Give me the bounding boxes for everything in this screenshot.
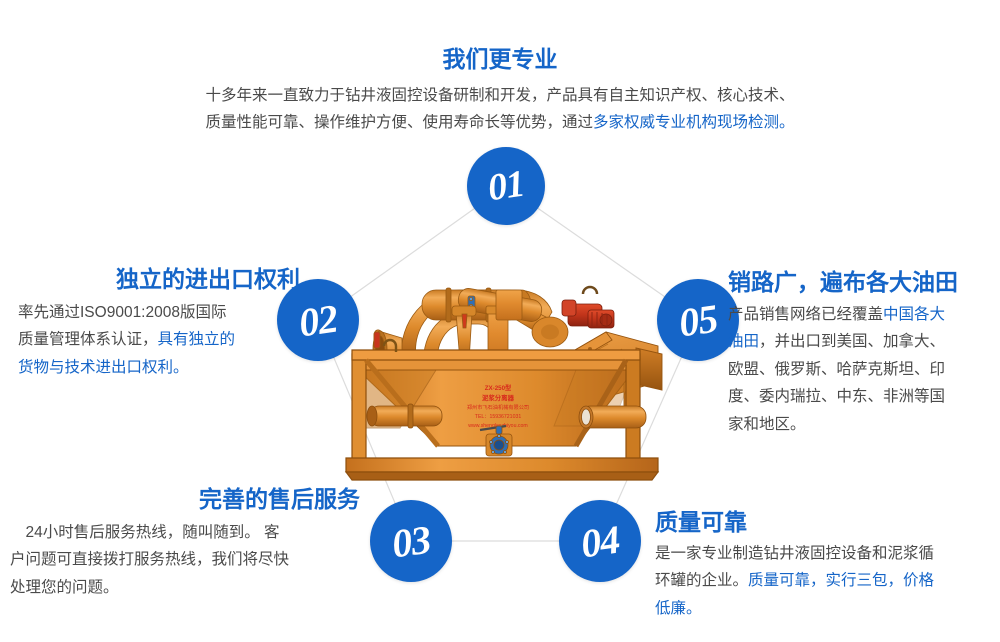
ll-line3: 处理您的问题。	[10, 579, 119, 596]
step-number-03: 03	[389, 515, 433, 567]
feature-block-after-sales: 完善的售后服务 24小时售后服务热线，随叫随到。 客 户问题可直接拨打服务热线，…	[10, 485, 360, 601]
machine-photo: ZX-250型 泥浆分离器 郑州市飞石油机械有限公司 TEL：159367210…	[340, 250, 670, 495]
rl-line3-highlight: 低廉。	[655, 600, 702, 617]
lu-line2: 质量管理体系认证，	[18, 331, 158, 348]
step-number-05: 05	[676, 294, 720, 346]
svg-text:ZX-250型: ZX-250型	[485, 384, 512, 392]
feature-body-after-sales: 24小时售后服务热线，随叫随到。 客 户问题可直接拨打服务热线，我们将尽快 处理…	[10, 519, 360, 602]
feature-body-professional: 十多年来一直致力于钻井液固控设备研制和开发，产品具有自主知识产权、核心技术、 质…	[150, 82, 850, 137]
feature-block-top: 我们更专业 十多年来一直致力于钻井液固控设备研制和开发，产品具有自主知识产权、核…	[150, 45, 850, 137]
ru-line4: 度、委内瑞拉、中东、非洲等国	[728, 388, 945, 405]
svg-text:TEL：15936721031: TEL：15936721031	[475, 414, 522, 420]
feature-body-import-export: 率先通过ISO9001:2008版国际 质量管理体系认证，具有独立的 货物与技术…	[18, 299, 300, 382]
ru-line2: ，并出口到美国、加拿大、	[759, 333, 945, 350]
feature-heading-sales-network: 销路广，遍布各大油田	[728, 268, 990, 297]
top-line2-highlight: 多家权威专业机构现场检测。	[593, 114, 795, 131]
step-circle-05[interactable]: 05	[657, 279, 739, 361]
ru-line1-highlight: 中国各大	[883, 306, 945, 323]
rl-line2-highlight: 质量可靠，实行三包，价格	[748, 572, 934, 589]
lu-line1: 率先通过ISO9001:2008版国际	[18, 304, 226, 321]
feature-block-import-export: 独立的进出口权利 率先通过ISO9001:2008版国际 质量管理体系认证，具有…	[18, 265, 300, 381]
ru-line1: 产品销售网络已经覆盖	[728, 306, 883, 323]
feature-heading-quality: 质量可靠	[655, 508, 990, 537]
infographic-root: ZX-250型 泥浆分离器 郑州市飞石油机械有限公司 TEL：159367210…	[0, 0, 1000, 642]
feature-heading-professional: 我们更专业	[150, 45, 850, 74]
rl-line1: 是一家专业制造钻井液固控设备和泥浆循	[655, 545, 934, 562]
step-circle-01[interactable]: 01	[467, 147, 545, 225]
top-line1: 十多年来一直致力于钻井液固控设备研制和开发，产品具有自主知识产权、核心技术、	[205, 87, 794, 104]
feature-body-quality: 是一家专业制造钻井液固控设备和泥浆循 环罐的企业。质量可靠，实行三包，价格 低廉…	[655, 540, 990, 623]
rl-line2: 环罐的企业。	[655, 572, 748, 589]
step-number-04: 04	[578, 515, 622, 567]
top-line2: 质量性能可靠、操作维护方便、使用寿命长等优势，通过	[205, 114, 593, 131]
feature-heading-import-export: 独立的进出口权利	[18, 265, 300, 294]
step-number-02: 02	[296, 294, 340, 346]
step-number-01: 01	[485, 162, 527, 211]
feature-block-sales-network: 销路广，遍布各大油田 产品销售网络已经覆盖中国各大 油田，并出口到美国、加拿大、…	[728, 268, 990, 439]
ll-line1: 24小时售后服务热线，随叫随到。 客	[10, 524, 280, 541]
step-circle-03[interactable]: 03	[370, 500, 452, 582]
svg-text:郑州市飞石油机械有限公司: 郑州市飞石油机械有限公司	[467, 403, 529, 411]
feature-block-quality: 质量可靠 是一家专业制造钻井液固控设备和泥浆循 环罐的企业。质量可靠，实行三包，…	[655, 508, 990, 622]
feature-body-sales-network: 产品销售网络已经覆盖中国各大 油田，并出口到美国、加拿大、 欧盟、俄罗斯、哈萨克…	[728, 301, 990, 439]
ru-line2-highlight: 油田	[728, 333, 759, 350]
ll-line2: 户问题可直接拨打服务热线，我们将尽快	[10, 551, 289, 568]
ru-line5: 家和地区。	[728, 416, 806, 433]
feature-heading-after-sales: 完善的售后服务	[10, 485, 360, 514]
svg-text:泥浆分离器: 泥浆分离器	[482, 393, 515, 402]
lu-line3-highlight: 货物与技术进出口权利。	[18, 359, 189, 376]
ru-line3: 欧盟、俄罗斯、哈萨克斯坦、印	[728, 361, 945, 378]
lu-line2-highlight: 具有独立的	[158, 331, 236, 348]
step-circle-04[interactable]: 04	[559, 500, 641, 582]
